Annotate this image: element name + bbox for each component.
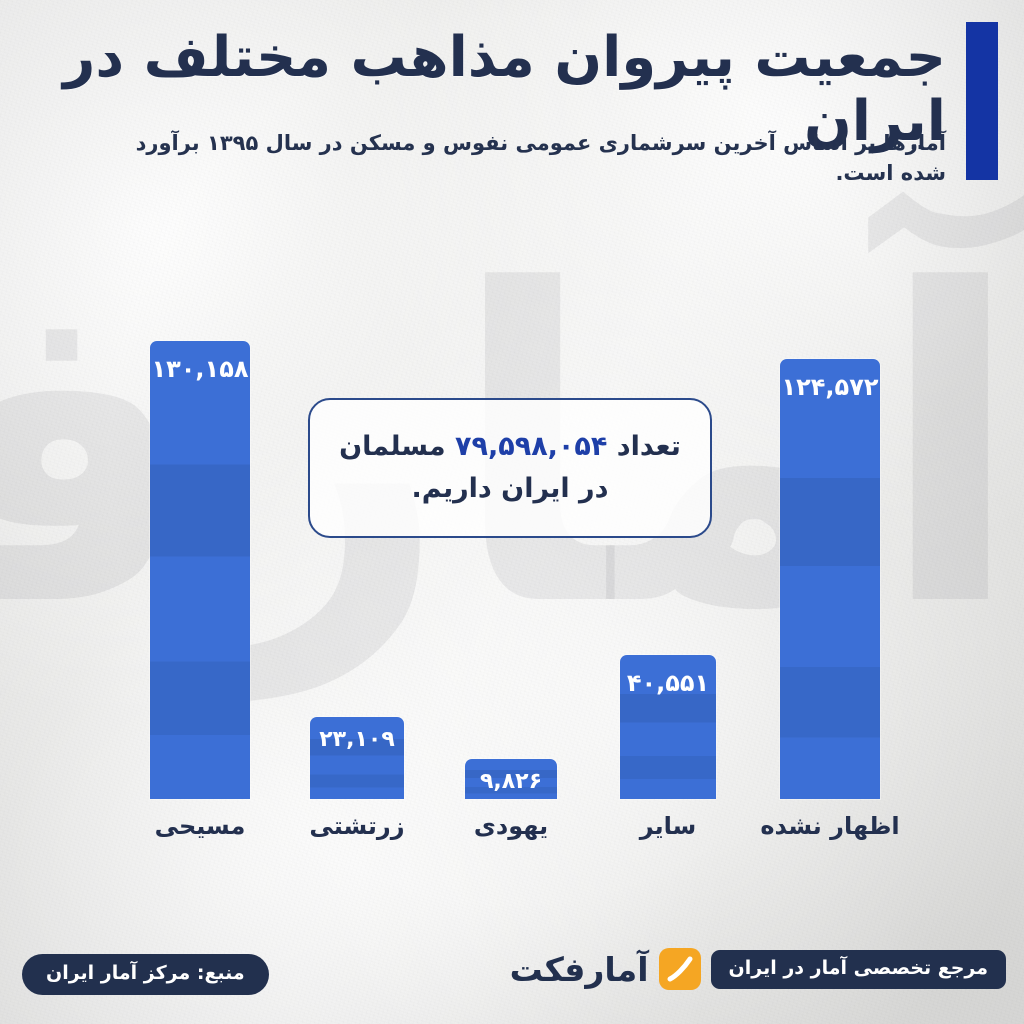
bar-value-label: ۴۰,۵۵۱ (620, 669, 716, 697)
callout-number: ۷۹,۵۹۸,۰۵۴ (455, 431, 607, 462)
bar-group: ۲۳,۱۰۹زرتشتی (310, 300, 404, 840)
bar: ۹,۸۲۶ (465, 759, 557, 799)
header: جمعیت پیروان مذاهب مختلف در ایران آمارها… (0, 0, 1024, 200)
bar-group: ۹,۸۲۶یهودی (465, 300, 557, 840)
bar: ۴۰,۵۵۱ (620, 655, 716, 799)
bar: ۲۳,۱۰۹ (310, 717, 404, 799)
page-subtitle: آمارها بر اساس آخرین سرشماری عمومی نفوس … (100, 128, 946, 189)
category-label: یهودی (439, 812, 583, 840)
tagline-badge: مرجع تخصصی آمار در ایران (711, 950, 1006, 989)
footer: مرجع تخصصی آمار در ایران آمارفکت منبع: م… (0, 934, 1024, 1024)
bar-chart: ۱۳۰,۱۵۸مسیحی۲۳,۱۰۹زرتشتی۹,۸۲۶یهودی۴۰,۵۵۱… (0, 300, 1024, 840)
bar: ۱۲۴,۵۷۲ (780, 359, 880, 799)
bar-value-label: ۱۲۴,۵۷۲ (780, 373, 880, 401)
bar-group: ۴۰,۵۵۱سایر (620, 300, 716, 840)
muslim-population-callout: تعداد ۷۹,۵۹۸,۰۵۴ مسلمان در ایران داریم. (308, 398, 712, 538)
source-badge: منبع: مرکز آمار ایران (22, 954, 269, 995)
brand-name: آمارفکت (510, 953, 649, 986)
bar: ۱۳۰,۱۵۸ (150, 341, 250, 799)
accent-bar (966, 22, 998, 180)
chart-plot-area: ۱۳۰,۱۵۸مسیحی۲۳,۱۰۹زرتشتی۹,۸۲۶یهودی۴۰,۵۵۱… (110, 300, 914, 840)
infographic-poster: آمارفکت جمعیت پیروان مذاهب مختلف در ایرا… (0, 0, 1024, 1024)
category-label: مسیحی (124, 812, 276, 840)
bar-group: ۱۲۴,۵۷۲اظهار نشده (780, 300, 880, 840)
category-label: زرتشتی (284, 812, 430, 840)
callout-prefix: تعداد (607, 431, 681, 462)
category-label: اظهار نشده (754, 812, 906, 840)
bar-value-label: ۲۳,۱۰۹ (310, 727, 404, 752)
bar-value-label: ۱۳۰,۱۵۸ (150, 355, 250, 383)
rising-stroke-icon (659, 948, 701, 990)
category-label: سایر (594, 812, 742, 840)
brand-block[interactable]: مرجع تخصصی آمار در ایران آمارفکت (510, 948, 1006, 990)
bar-value-label: ۹,۸۲۶ (465, 769, 557, 794)
bar-group: ۱۳۰,۱۵۸مسیحی (150, 300, 250, 840)
callout-text: تعداد ۷۹,۵۹۸,۰۵۴ مسلمان در ایران داریم. (310, 426, 710, 510)
